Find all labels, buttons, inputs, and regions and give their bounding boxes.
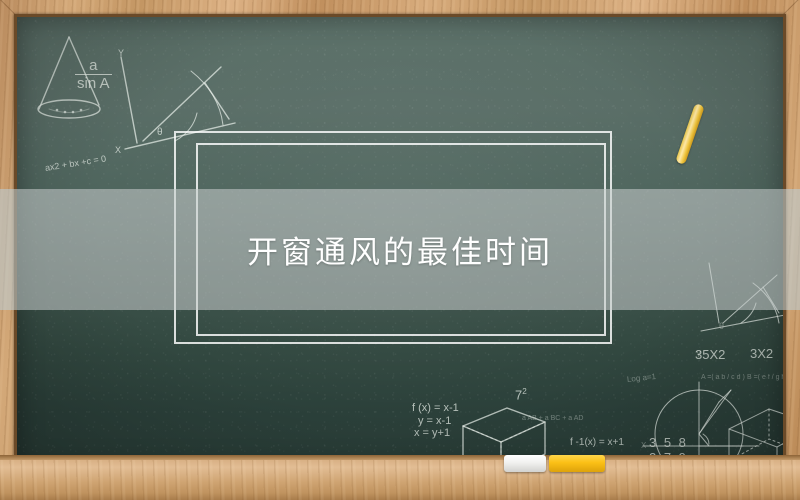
fraction-numerator: a [75, 57, 112, 75]
chalk-fraction-a-sina-topleft: a sin A [75, 57, 112, 93]
chalk-quadratic-equation: ax2 + bx +c = 0 [44, 153, 107, 173]
chalk-ab-ac-ad: a AB + a BC + a AD [522, 415, 583, 423]
chalk-matrix-b: B =( e f / g h ) [747, 374, 783, 382]
chalk-seven-squared: 72 [515, 387, 527, 403]
chalk-fx-line-1: f (x) = x-1 [412, 402, 459, 415]
chalk-inverse-fx: f -1(x) = x+1 [570, 437, 624, 449]
seven-exponent: 2 [522, 387, 526, 396]
chalk-log-a1: Log a=1 [627, 372, 657, 384]
chalk-circle-axis-y: Y [696, 350, 701, 359]
floating-yellow-chalk[interactable] [675, 103, 705, 165]
chalk-circle-axis-x: X [641, 441, 646, 450]
chalk-tray-ledge [0, 460, 800, 500]
cone-diagram [27, 31, 147, 141]
fraction-denominator: sin A [75, 75, 112, 92]
tray-yellow-chalk[interactable] [549, 455, 605, 472]
chalk-fx-line-3: x = y+1 [412, 427, 459, 440]
chalk-angle-theta-right: θ [719, 321, 724, 331]
addition-row-1: 3 5 8 [649, 436, 688, 451]
chalk-mult-3x2: 3X2 [750, 347, 773, 362]
tray-white-chalk[interactable] [504, 455, 546, 472]
chalk-angle-theta-topleft: θ [157, 127, 163, 139]
chalk-fx-line-2: y = x-1 [412, 415, 459, 428]
unit-circle-diagram [647, 372, 767, 467]
chalk-matrix-a: A =( a b / c d ) [701, 374, 745, 382]
seven-base: 7 [515, 387, 522, 402]
page-title: 开窗通风的最佳时间 [0, 189, 800, 310]
chalkboard-title-card: a sin A ax2 + bx +c = 0 Y X θ [0, 0, 800, 500]
chalk-mult-35x2: 35X2 [695, 348, 725, 363]
chalk-fx-equations: f (x) = x-1 y = x-1 x = y+1 [412, 402, 459, 440]
chalk-axis-label-y: Y [118, 48, 124, 58]
chalk-axis-label-x: X [115, 145, 121, 155]
